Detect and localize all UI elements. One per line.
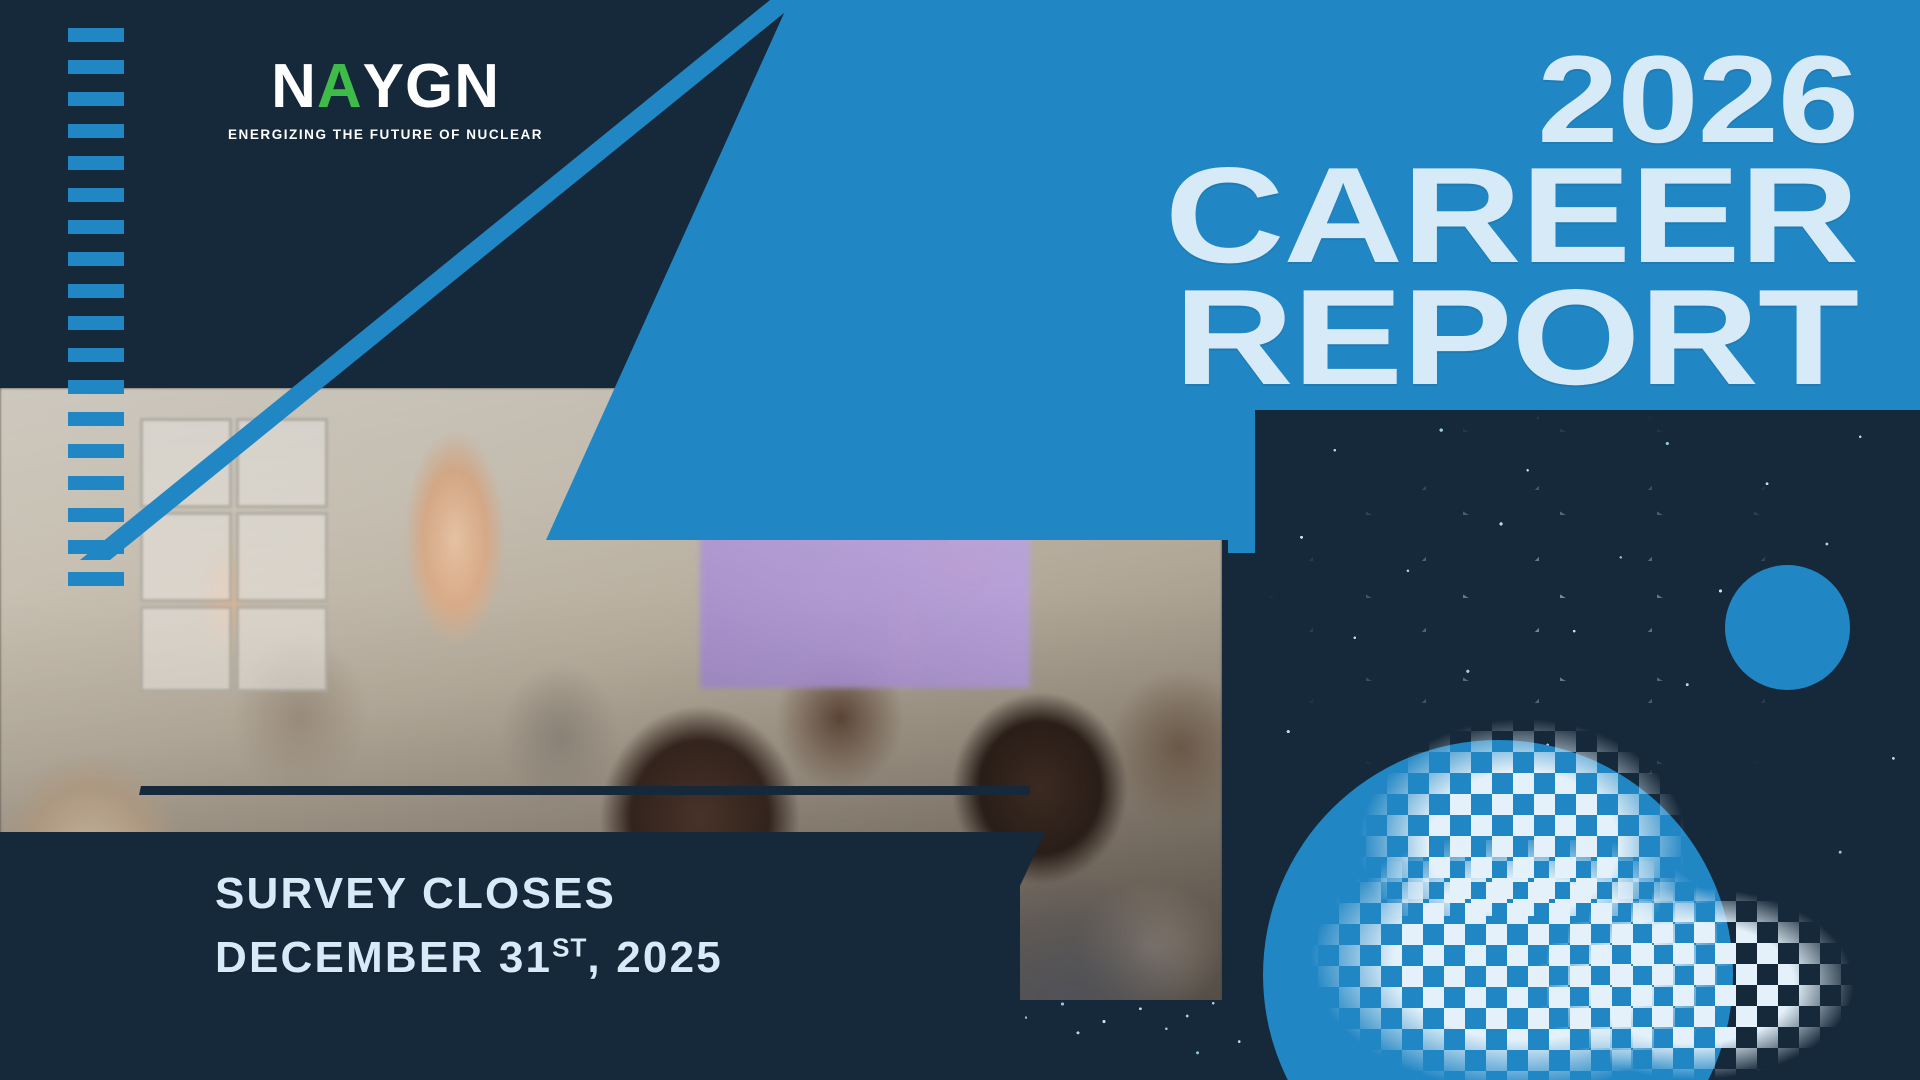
headline-year: 2026 [515, 48, 1858, 152]
dash-mark [68, 220, 124, 234]
headline-career: CAREER [470, 158, 1858, 272]
dash-mark [68, 380, 124, 394]
poster-canvas: 2026 CAREER REPORT NAYGN ENERGIZING THE … [0, 0, 1920, 1080]
dash-mark [68, 444, 124, 458]
naygn-logo: NAYGN ENERGIZING THE FUTURE OF NUCLEAR [228, 56, 543, 142]
survey-date-suffix: , 2025 [587, 933, 723, 982]
logo-letter-n: N [271, 56, 317, 118]
divider-rule [770, 786, 1030, 795]
dash-mark [68, 92, 124, 106]
survey-info: SURVEY CLOSES DECEMBER 31ST, 2025 [215, 862, 723, 990]
dash-mark [68, 540, 124, 554]
dash-mark [68, 124, 124, 138]
diamond-grid-pattern [1505, 880, 1920, 1080]
logo-letter-a: A [317, 56, 363, 118]
survey-date-ordinal: ST [552, 933, 587, 963]
dash-mark [68, 572, 124, 586]
logo-letters-ygn: YGN [363, 56, 500, 118]
survey-closes-label: SURVEY CLOSES [215, 862, 723, 926]
dash-mark [68, 60, 124, 74]
dash-mark [68, 284, 124, 298]
page-title: 2026 CAREER REPORT [720, 48, 1920, 468]
dash-mark [68, 412, 124, 426]
decorative-panel [1255, 410, 1920, 1080]
dash-mark [68, 252, 124, 266]
logo-wordmark: NAYGN [228, 56, 543, 118]
dash-mark [68, 348, 124, 362]
small-circle-shape [1725, 565, 1850, 690]
dash-mark [68, 316, 124, 330]
dash-mark [68, 28, 124, 42]
survey-date-prefix: DECEMBER 31 [215, 933, 552, 982]
dash-mark [68, 188, 124, 202]
logo-tagline: ENERGIZING THE FUTURE OF NUCLEAR [228, 127, 543, 142]
dash-mark [68, 476, 124, 490]
dash-mark [68, 156, 124, 170]
dash-column [68, 28, 124, 728]
dash-mark [68, 508, 124, 522]
headline-report: REPORT [470, 280, 1858, 394]
survey-close-date: DECEMBER 31ST, 2025 [215, 926, 723, 990]
